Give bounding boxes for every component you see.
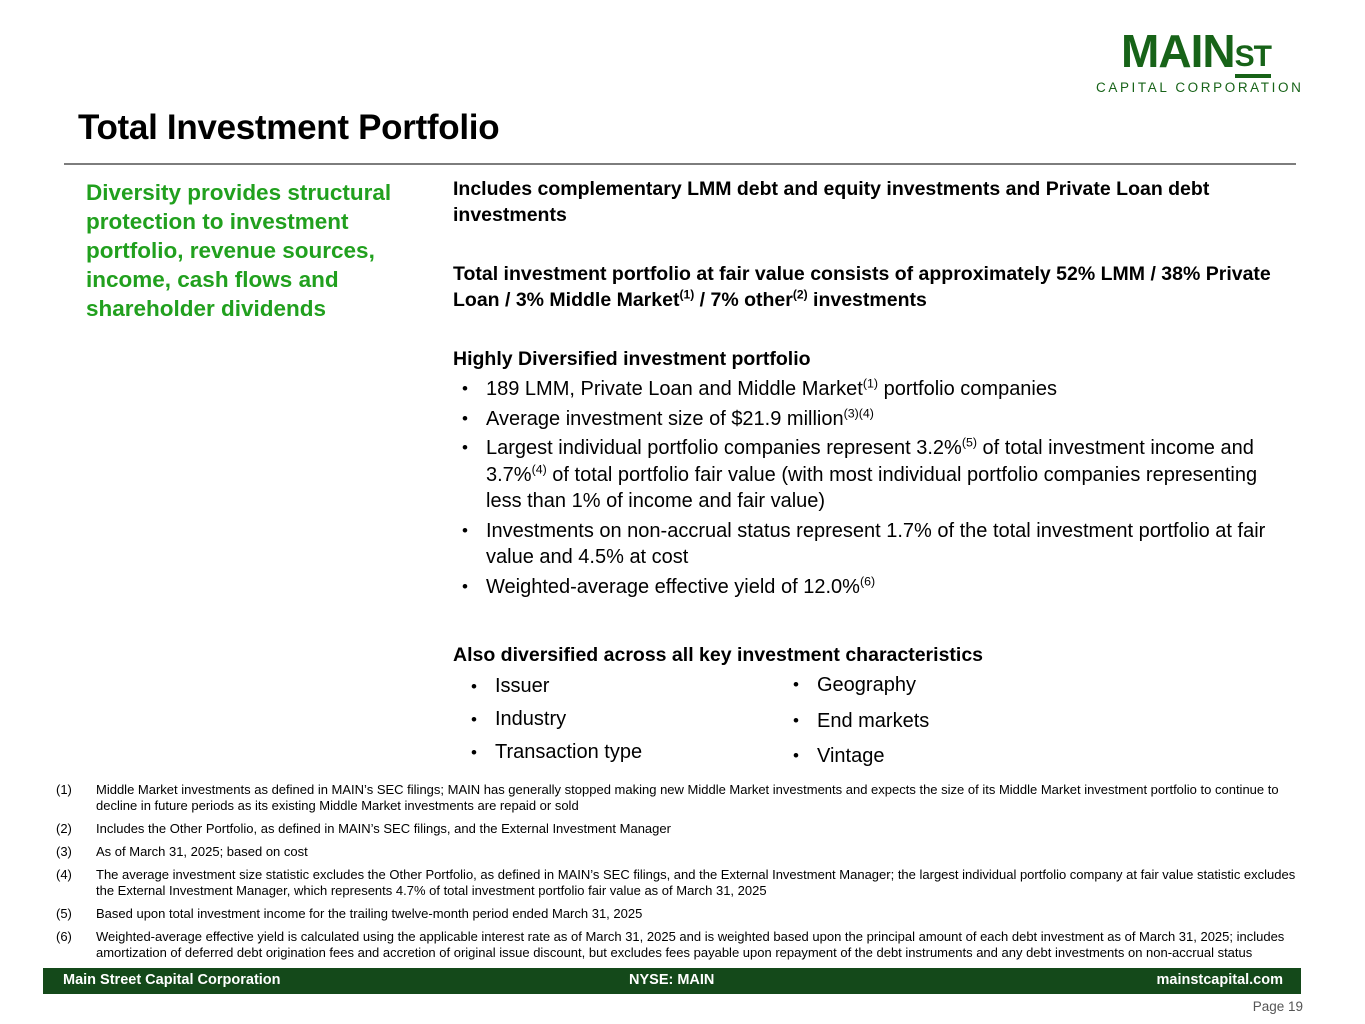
allocation-text-2: / 7% other	[694, 289, 793, 311]
footer-bar: Main Street Capital Corporation NYSE: MA…	[43, 968, 1301, 994]
footnote-ref: (6)	[860, 574, 875, 588]
list-item: Largest individual portfolio companies r…	[453, 435, 1298, 515]
also-diversified-section: Also diversified across all key investme…	[453, 642, 1298, 768]
list-item: Average investment size of $21.9 million…	[453, 406, 1298, 433]
footnote-number: (6)	[56, 929, 72, 945]
bullet-text-1: 189 LMM, Private Loan and Middle Market	[486, 378, 863, 400]
footnote-text: Includes the Other Portfolio, as defined…	[96, 821, 1301, 837]
footnote-item: (3) As of March 31, 2025; based on cost	[56, 844, 1301, 860]
list-item: End markets	[785, 706, 929, 737]
bullet-text-1b: portfolio companies	[878, 378, 1057, 400]
footnote-number: (5)	[56, 906, 72, 922]
spacer	[453, 228, 1298, 261]
logo-subtitle: CAPITAL CORPORATION	[1096, 80, 1296, 95]
footnote-number: (1)	[56, 782, 72, 798]
page-title: Total Investment Portfolio	[78, 108, 499, 148]
list-item: Issuer	[463, 672, 642, 701]
subheading-also-diversified: Also diversified across all key investme…	[453, 642, 1298, 668]
footnote-item: (6) Weighted-average effective yield is …	[56, 929, 1301, 961]
list-item: Geography	[785, 670, 929, 701]
diversification-bullet-list: 189 LMM, Private Loan and Middle Market(…	[453, 376, 1298, 600]
slide: MAINST CAPITAL CORPORATION Total Investm…	[0, 0, 1365, 1024]
subheading-highly-diversified: Highly Diversified investment portfolio	[453, 346, 1298, 372]
paragraph-includes: Includes complementary LMM debt and equi…	[453, 176, 1298, 228]
characteristics-right-column: Geography End markets Vintage	[785, 670, 929, 777]
footnote-text: As of March 31, 2025; based on cost	[96, 844, 1301, 860]
footer-company-name: Main Street Capital Corporation	[63, 972, 281, 988]
footnote-item: (5) Based upon total investment income f…	[56, 906, 1301, 922]
bullet-text-3: Largest individual portfolio companies r…	[486, 437, 962, 459]
list-item: Weighted-average effective yield of 12.0…	[453, 574, 1298, 601]
footer-website[interactable]: mainstcapital.com	[1156, 972, 1283, 988]
footnote-text: The average investment size statistic ex…	[96, 867, 1301, 899]
footnote-item: (2) Includes the Other Portfolio, as def…	[56, 821, 1301, 837]
list-item: Vintage	[785, 741, 929, 772]
footnote-number: (2)	[56, 821, 72, 837]
list-item: Investments on non-accrual status repres…	[453, 518, 1298, 571]
main-street-capital-logo: MAINST CAPITAL CORPORATION	[1096, 28, 1296, 95]
footnote-number: (4)	[56, 867, 72, 883]
list-item: 189 LMM, Private Loan and Middle Market(…	[453, 376, 1298, 403]
footnote-item: (1) Middle Market investments as defined…	[56, 782, 1301, 814]
callout-text: Diversity provides structural protection…	[86, 178, 438, 323]
footnote-ref: (1)	[863, 376, 878, 390]
characteristics-columns: Issuer Industry Transaction type Geograp…	[453, 668, 1298, 768]
footnote-ref: (5)	[962, 435, 977, 449]
footnote-text: Middle Market investments as defined in …	[96, 782, 1301, 814]
list-item: Transaction type	[463, 738, 642, 767]
logo-wordmark: MAINST	[1096, 28, 1296, 74]
footnote-number: (3)	[56, 844, 72, 860]
footnote-ref: (4)	[532, 462, 547, 476]
footnotes-section: (1) Middle Market investments as defined…	[56, 782, 1301, 968]
spacer	[453, 313, 1298, 346]
bullet-text-5: Weighted-average effective yield of 12.0…	[486, 576, 860, 598]
footer-ticker: NYSE: MAIN	[629, 972, 714, 988]
footnote-text: Based upon total investment income for t…	[96, 906, 1301, 922]
main-content: Includes complementary LMM debt and equi…	[453, 176, 1298, 768]
footnote-ref-2: (2)	[793, 288, 808, 302]
bullet-text-2: Average investment size of $21.9 million	[486, 408, 844, 430]
page-number: Page 19	[1253, 999, 1303, 1014]
logo-st-text: ST	[1235, 40, 1271, 78]
footnote-item: (4) The average investment size statisti…	[56, 867, 1301, 899]
list-item: Industry	[463, 705, 642, 734]
paragraph-allocation: Total investment portfolio at fair value…	[453, 261, 1298, 313]
characteristics-left-column: Issuer Industry Transaction type	[463, 672, 642, 771]
footnote-text: Weighted-average effective yield is calc…	[96, 929, 1301, 961]
allocation-text-3: investments	[808, 289, 927, 311]
logo-main-text: MAIN	[1121, 25, 1235, 77]
bullet-text-3c: of total portfolio fair value (with most…	[486, 464, 1257, 513]
footnote-ref: (3)(4)	[844, 406, 874, 420]
title-divider	[64, 163, 1296, 165]
footnote-ref-1: (1)	[679, 288, 694, 302]
bullet-text-4: Investments on non-accrual status repres…	[486, 520, 1265, 569]
